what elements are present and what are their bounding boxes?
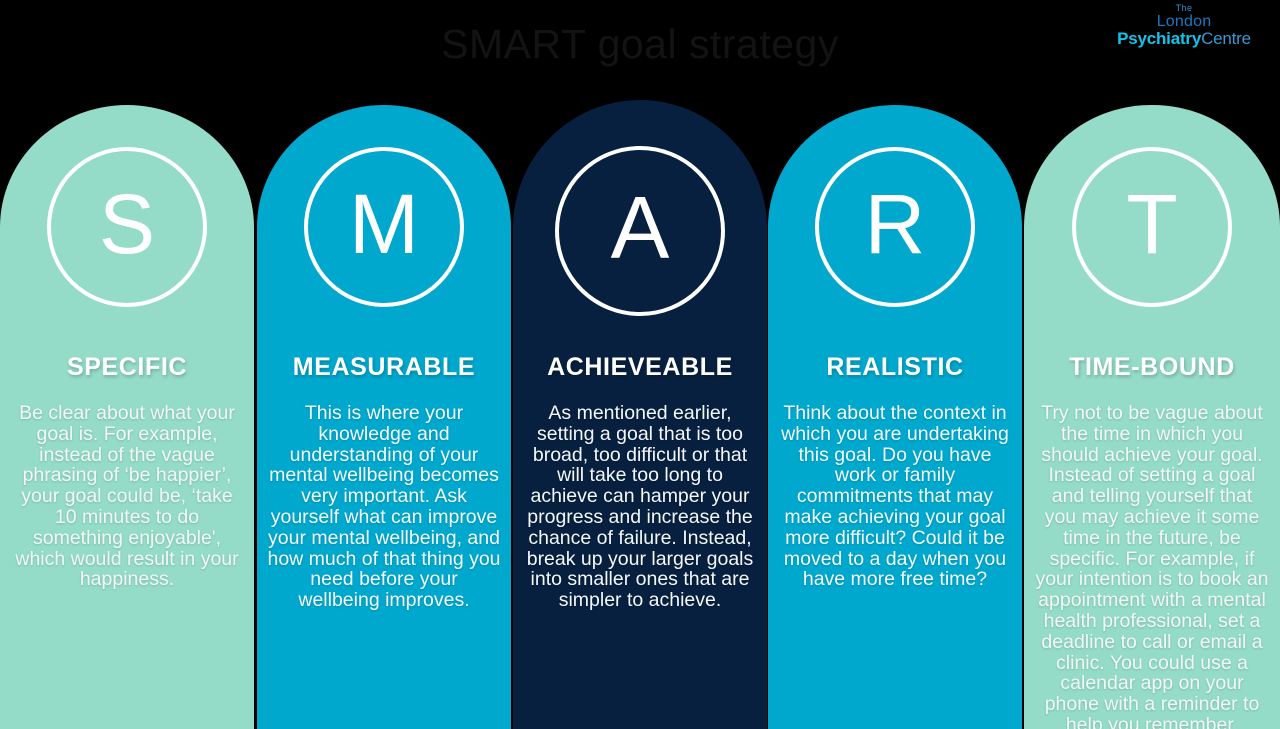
column-body-text: This is where your knowledge and underst… xyxy=(267,403,501,611)
letter-glyph: S xyxy=(99,182,155,266)
letter-glyph: M xyxy=(349,182,419,266)
letter-circle-icon: M xyxy=(304,147,464,307)
column-heading: REALISTIC xyxy=(774,353,1016,382)
smart-column-achieveable: A ACHIEVEABLE As mentioned earlier, sett… xyxy=(513,100,767,729)
column-body-text: Think about the context in which you are… xyxy=(778,403,1012,590)
column-heading: SPECIFIC xyxy=(6,353,248,382)
letter-glyph: R xyxy=(865,182,926,266)
letter-circle-icon: A xyxy=(555,146,725,316)
smart-column-time-bound: T TIME-BOUND Try not to be vague about t… xyxy=(1024,105,1280,729)
smart-columns: S SPECIFIC Be clear about what your goal… xyxy=(0,0,1280,729)
column-body-text: Try not to be vague about the time in wh… xyxy=(1034,403,1270,729)
smart-column-realistic: R REALISTIC Think about the context in w… xyxy=(768,105,1022,729)
letter-circle-icon: T xyxy=(1072,147,1232,307)
letter-circle-icon: S xyxy=(47,147,207,307)
column-body-text: Be clear about what your goal is. For ex… xyxy=(10,403,244,590)
column-body-text: As mentioned earlier, setting a goal tha… xyxy=(523,403,757,611)
smart-column-specific: S SPECIFIC Be clear about what your goal… xyxy=(0,105,254,729)
letter-glyph: T xyxy=(1126,182,1177,266)
column-heading: MEASURABLE xyxy=(263,353,505,382)
column-heading: TIME-BOUND xyxy=(1030,353,1274,382)
column-heading: ACHIEVEABLE xyxy=(519,353,761,382)
letter-glyph: A xyxy=(611,184,670,272)
letter-circle-icon: R xyxy=(815,147,975,307)
smart-column-measurable: M MEASURABLE This is where your knowledg… xyxy=(257,105,511,729)
